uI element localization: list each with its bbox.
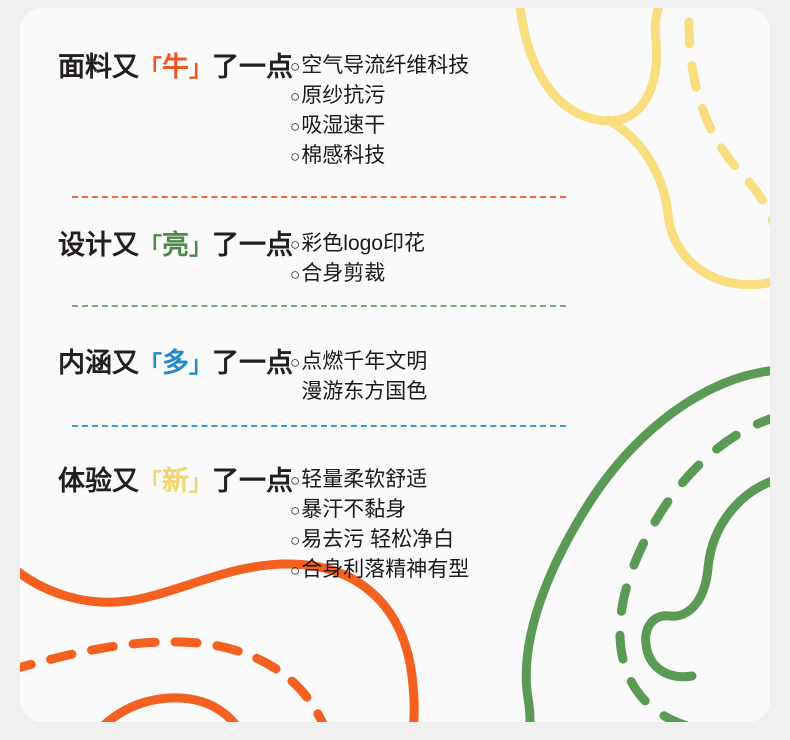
bracket-open: 「 — [139, 55, 162, 81]
title-suffix: 了一点 — [212, 230, 293, 260]
list-item-label: 合身剪裁 — [301, 259, 385, 288]
list-item: ○ 合身利落精神有型 — [290, 555, 588, 585]
circle-bullet-icon: ○ — [290, 82, 300, 111]
section-title: 内涵又「多」了一点 — [58, 346, 290, 381]
list-item: ○ 原纱抗污 — [290, 81, 588, 111]
screenshot-root: 面料又「牛」了一点 ○ 空气导流纤维科技 ○ 原纱抗污 ○ 吸湿速干 — [0, 0, 790, 740]
bracket-close: 」 — [189, 233, 212, 259]
circle-bullet-icon: ○ — [290, 556, 300, 585]
title-highlight: 新 — [162, 466, 189, 496]
list-item-label: 原纱抗污 — [301, 81, 385, 110]
list-item: ○ 吸湿速干 — [290, 111, 588, 141]
circle-bullet-icon: ○ — [290, 112, 300, 141]
list-item-label: 彩色logo印花 — [301, 229, 425, 258]
title-prefix: 设计又 — [58, 230, 139, 260]
circle-bullet-icon: ○ — [290, 466, 300, 495]
section-divider — [72, 425, 566, 427]
list-item-label: 合身利落精神有型 — [301, 555, 469, 584]
list-item: ○ 易去污 轻松净白 — [290, 525, 588, 555]
section-bullet-list: ○ 彩色logo印花 ○ 合身剪裁 — [290, 228, 588, 289]
title-highlight: 牛 — [162, 52, 189, 82]
bracket-open: 「 — [139, 469, 162, 495]
title-suffix: 了一点 — [212, 52, 293, 82]
title-highlight: 亮 — [162, 230, 189, 260]
section-experience: 体验又「新」了一点 ○ 轻量柔软舒适 ○ 暴汗不黏身 ○ 易去污 轻松净白 — [58, 464, 588, 585]
title-highlight: 多 — [162, 348, 189, 378]
circle-bullet-icon: ○ — [290, 230, 300, 259]
list-item: ○ 点燃千年文明 — [290, 347, 588, 377]
circle-bullet-icon: ○ — [290, 260, 300, 289]
section-divider — [72, 305, 566, 307]
list-item-label: 点燃千年文明 — [301, 347, 427, 376]
section-design: 设计又「亮」了一点 ○ 彩色logo印花 ○ 合身剪裁 — [58, 228, 588, 289]
list-item-label: 轻量柔软舒适 — [301, 465, 427, 494]
title-suffix: 了一点 — [212, 466, 293, 496]
list-item: ○ 轻量柔软舒适 — [290, 465, 588, 495]
circle-bullet-icon: ○ — [290, 496, 300, 525]
list-item: ○ 暴汗不黏身 — [290, 495, 588, 525]
bracket-close: 」 — [189, 469, 212, 495]
list-item: ○ 棉感科技 — [290, 141, 588, 171]
bracket-open: 「 — [139, 233, 162, 259]
list-item: ○ 合身剪裁 — [290, 259, 588, 289]
title-prefix: 面料又 — [58, 52, 139, 82]
circle-bullet-icon: ○ — [290, 142, 300, 171]
section-bullet-list: ○ 空气导流纤维科技 ○ 原纱抗污 ○ 吸湿速干 ○ 棉感科技 — [290, 50, 588, 171]
bracket-close: 」 — [189, 351, 212, 377]
title-prefix: 体验又 — [58, 466, 139, 496]
list-item-label: 棉感科技 — [301, 141, 385, 170]
bracket-close: 」 — [189, 55, 212, 81]
section-divider — [72, 196, 566, 198]
list-item-label: 吸湿速干 — [301, 111, 385, 140]
list-item-label: 空气导流纤维科技 — [301, 51, 469, 80]
section-title: 面料又「牛」了一点 — [58, 50, 290, 85]
title-prefix: 内涵又 — [58, 348, 139, 378]
feature-card: 面料又「牛」了一点 ○ 空气导流纤维科技 ○ 原纱抗污 ○ 吸湿速干 — [20, 8, 770, 722]
section-connotation: 内涵又「多」了一点 ○ 点燃千年文明 ○ 漫游东方国色 — [58, 346, 588, 407]
section-bullet-list: ○ 轻量柔软舒适 ○ 暴汗不黏身 ○ 易去污 轻松净白 ○ 合身利落精神有型 — [290, 464, 588, 585]
section-title: 设计又「亮」了一点 — [58, 228, 290, 263]
section-fabric: 面料又「牛」了一点 ○ 空气导流纤维科技 ○ 原纱抗污 ○ 吸湿速干 — [58, 50, 588, 171]
list-item-label: 暴汗不黏身 — [301, 495, 406, 524]
list-item-label: 易去污 轻松净白 — [301, 525, 454, 554]
circle-bullet-icon: ○ — [290, 52, 300, 81]
circle-bullet-icon: ○ — [290, 348, 300, 377]
feature-sections: 面料又「牛」了一点 ○ 空气导流纤维科技 ○ 原纱抗污 ○ 吸湿速干 — [20, 8, 770, 722]
section-title: 体验又「新」了一点 — [58, 464, 290, 499]
list-item-label: 漫游东方国色 — [301, 377, 427, 406]
circle-bullet-icon: ○ — [290, 526, 300, 555]
list-item: ○ 彩色logo印花 — [290, 229, 588, 259]
list-item: ○ 漫游东方国色 — [290, 377, 588, 407]
title-suffix: 了一点 — [212, 348, 293, 378]
bracket-open: 「 — [139, 351, 162, 377]
list-item: ○ 空气导流纤维科技 — [290, 51, 588, 81]
section-bullet-list: ○ 点燃千年文明 ○ 漫游东方国色 — [290, 346, 588, 407]
